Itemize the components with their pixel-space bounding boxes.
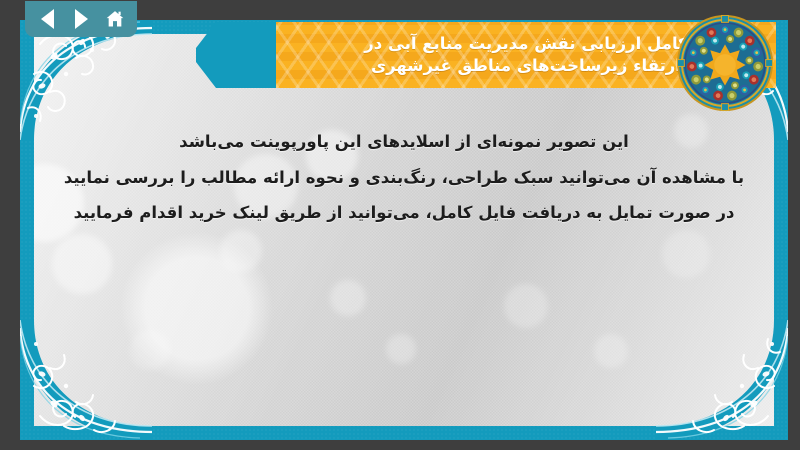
previous-arrow-icon — [41, 9, 54, 29]
bokeh-circle — [130, 330, 170, 370]
bokeh-circle — [662, 230, 710, 278]
bokeh-circle — [504, 284, 548, 328]
bokeh-circle — [386, 334, 416, 364]
navigation-bar — [25, 1, 137, 37]
body-line-1: این تصویر نمونه‌ای از اسلایدهای این پاور… — [40, 128, 768, 156]
next-button[interactable] — [71, 8, 91, 30]
slide-body-text: این تصویر نمونه‌ای از اسلایدهای این پاور… — [40, 128, 768, 233]
home-icon — [105, 8, 125, 30]
slide-stage: این تصویر نمونه‌ای از اسلایدهای این پاور… — [0, 0, 800, 450]
next-arrow-icon — [75, 9, 88, 29]
bokeh-circle — [330, 280, 366, 316]
bokeh-circle — [52, 234, 112, 294]
body-line-2: با مشاهده آن می‌توانید سبک طراحی، رنگ‌بن… — [40, 164, 768, 192]
slide-header: کامل ارزیابی نقش مدیریت منابع آبی در ارت… — [0, 0, 800, 104]
body-line-3: در صورت تمایل به دریافت فایل کامل، می‌تو… — [40, 199, 768, 227]
bokeh-circle — [220, 230, 262, 272]
bokeh-circle — [594, 334, 628, 368]
previous-button[interactable] — [37, 8, 57, 30]
home-button[interactable] — [105, 8, 125, 30]
persian-medallion-icon — [676, 14, 774, 112]
